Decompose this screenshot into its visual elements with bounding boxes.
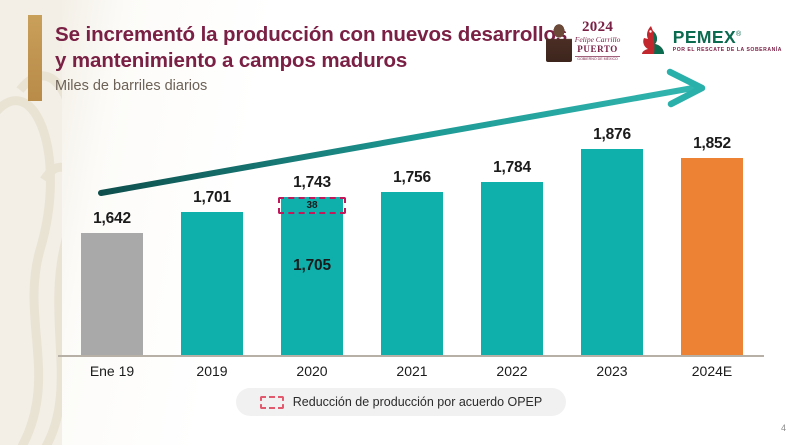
year-2024-logo: 2024 Felipe Carrillo PUERTO GOBIERNO DE … [546, 16, 628, 66]
x-axis-tick: 2024E [662, 358, 762, 379]
chart-legend: Reducción de producción por acuerdo OPEP [236, 388, 566, 416]
x-axis-tick: 2020 [262, 358, 362, 379]
pemex-registered-mark: ® [736, 31, 742, 38]
pemex-wordmark: PEMEX® [673, 29, 782, 47]
page-number: 4 [781, 423, 786, 433]
bar-2020[interactable]: 38 1,705 [281, 197, 343, 355]
bar-2022[interactable] [481, 182, 543, 355]
year-logo-fineprint: GOBIERNO DE MÉXICO [575, 58, 621, 62]
bar-value-label: 1,852 [693, 135, 731, 153]
bar-column[interactable]: 1,743 38 1,705 [262, 95, 362, 355]
page-subtitle: Miles de barriles diarios [55, 78, 575, 94]
felipe-carrillo-portrait-icon [546, 20, 572, 62]
x-axis-tick: 2022 [462, 358, 562, 379]
header: Se incrementó la producción con nuevos d… [55, 22, 575, 94]
bar-value-label: 1,784 [493, 159, 531, 177]
x-axis-labels: Ene 19 2019 2020 2021 2022 2023 2024E [62, 358, 762, 379]
year-logo-rule [575, 56, 621, 57]
pemex-logo: PEMEX® POR EL RESCATE DE LA SOBERANÍA [638, 25, 782, 57]
bar-column[interactable]: 1,876 [562, 95, 662, 355]
year-logo-place: PUERTO [575, 45, 621, 54]
slide: Se incrementó la producción con nuevos d… [0, 0, 800, 445]
pemex-tagline: POR EL RESCATE DE LA SOBERANÍA [673, 48, 782, 53]
page-title-line2: y mantenimiento a campos maduros [55, 48, 575, 74]
x-axis-line [58, 355, 764, 357]
x-axis-tick: 2019 [162, 358, 262, 379]
opep-reduction-value: 38 [306, 200, 317, 211]
pemex-eagle-icon [638, 25, 668, 57]
bar-value-label: 1,642 [93, 210, 131, 228]
bar-value-label: 1,756 [393, 169, 431, 187]
bar-inner-value-label: 1,705 [281, 257, 343, 275]
bar-column[interactable]: 1,852 [662, 95, 762, 355]
bar-2023[interactable] [581, 149, 643, 355]
bar-column[interactable]: 1,756 [362, 95, 462, 355]
opep-reduction-box: 38 [278, 197, 346, 214]
bar-value-label: 1,876 [593, 126, 631, 144]
bar-column[interactable]: 1,701 [162, 95, 262, 355]
logo-group: 2024 Felipe Carrillo PUERTO GOBIERNO DE … [546, 16, 782, 66]
legend-swatch-icon [260, 396, 284, 409]
year-logo-year: 2024 [575, 20, 621, 35]
bar-ene19[interactable] [81, 233, 143, 355]
bar-2019[interactable] [181, 212, 243, 355]
bar-chart: 1,642 1,701 1,743 38 1,705 1,756 [62, 95, 762, 355]
bar-value-label: 1,743 [293, 174, 331, 192]
x-axis-tick: Ene 19 [62, 358, 162, 379]
bar-column[interactable]: 1,642 [62, 95, 162, 355]
x-axis-tick: 2023 [562, 358, 662, 379]
page-title: Se incrementó la producción con nuevos d… [55, 22, 575, 74]
bar-value-label: 1,701 [193, 189, 231, 207]
bar-2021[interactable] [381, 192, 443, 355]
page-title-line1: Se incrementó la producción con nuevos d… [55, 22, 575, 48]
year-logo-name: Felipe Carrillo [575, 36, 621, 44]
gold-accent-bar [28, 15, 42, 101]
x-axis-tick: 2021 [362, 358, 462, 379]
bar-column[interactable]: 1,784 [462, 95, 562, 355]
bar-group: 1,642 1,701 1,743 38 1,705 1,756 [62, 95, 762, 355]
bar-2024e[interactable] [681, 158, 743, 355]
legend-label: Reducción de producción por acuerdo OPEP [293, 395, 542, 409]
